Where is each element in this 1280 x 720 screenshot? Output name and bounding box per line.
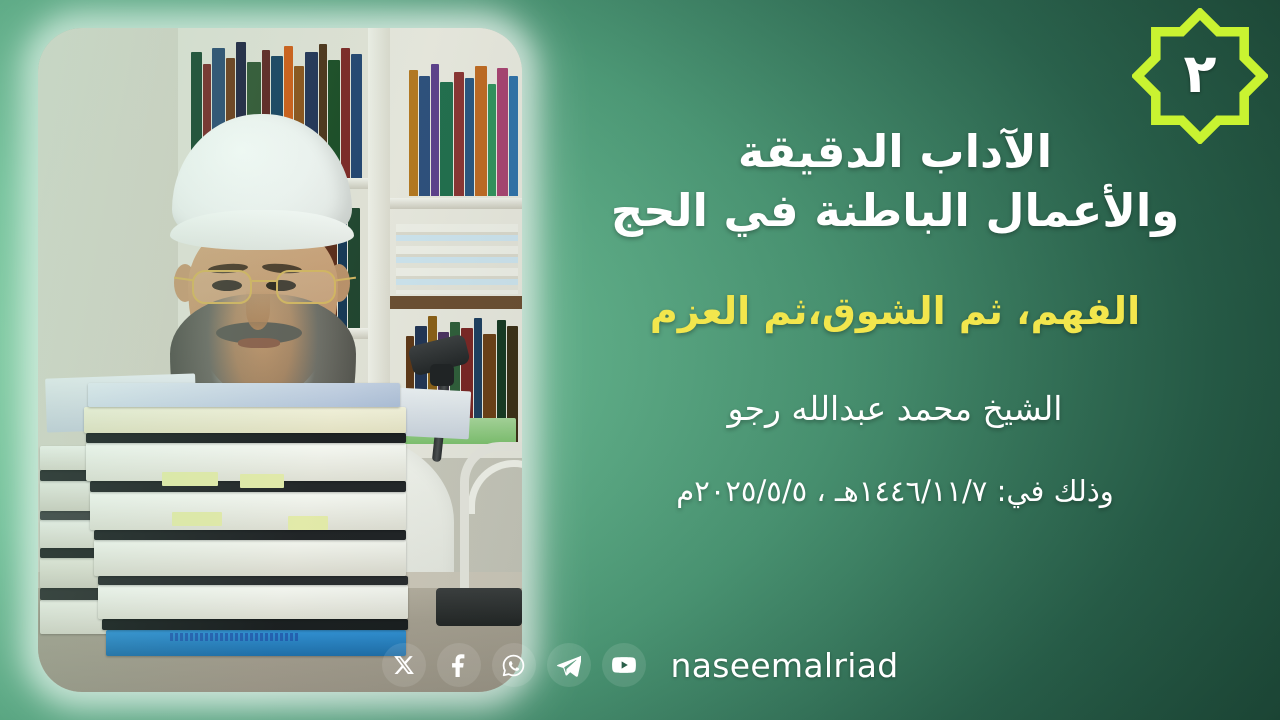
whatsapp-icon[interactable] <box>492 643 536 687</box>
lens-left <box>192 270 252 304</box>
title-line-1: الآداب الدقيقة <box>545 122 1245 181</box>
lens-right <box>276 270 336 304</box>
speaker-photo-image <box>38 28 522 692</box>
x-twitter-icon[interactable] <box>382 643 426 687</box>
social-bar: naseemalriad <box>0 643 1280 687</box>
subtitle: الفهم، ثم الشوق،ثم العزم <box>650 287 1140 336</box>
glasses-bridge <box>252 280 278 282</box>
title-line-2: والأعمال الباطنة في الحج <box>545 181 1245 240</box>
turban-band <box>170 210 354 250</box>
facebook-icon[interactable] <box>437 643 481 687</box>
eyeglasses <box>192 266 338 310</box>
shelf-board-wood <box>390 296 522 309</box>
paper-stack <box>396 224 518 294</box>
telegram-icon[interactable] <box>547 643 591 687</box>
book-row <box>396 54 518 196</box>
social-handle: naseemalriad <box>671 649 899 682</box>
text-column: الآداب الدقيقة والأعمال الباطنة في الحج … <box>545 0 1245 720</box>
book-label <box>170 633 300 641</box>
lecture-title-card: ٢ الآداب الدقيقة والأعمال الباطنة في الح… <box>0 0 1280 720</box>
lips <box>238 338 280 348</box>
title-block: الآداب الدقيقة والأعمال الباطنة في الحج <box>545 122 1245 241</box>
speaker-photo <box>38 28 522 692</box>
youtube-icon[interactable] <box>602 643 646 687</box>
black-object <box>436 588 522 626</box>
author-name: الشيخ محمد عبدالله رجو <box>728 388 1063 431</box>
chair-back <box>460 442 522 592</box>
book-stack <box>44 362 464 662</box>
lecture-date: وذلك في: ١٤٤٦/١١/٧هـ ، ٢٠٢٥/٥/٥م <box>676 473 1114 511</box>
